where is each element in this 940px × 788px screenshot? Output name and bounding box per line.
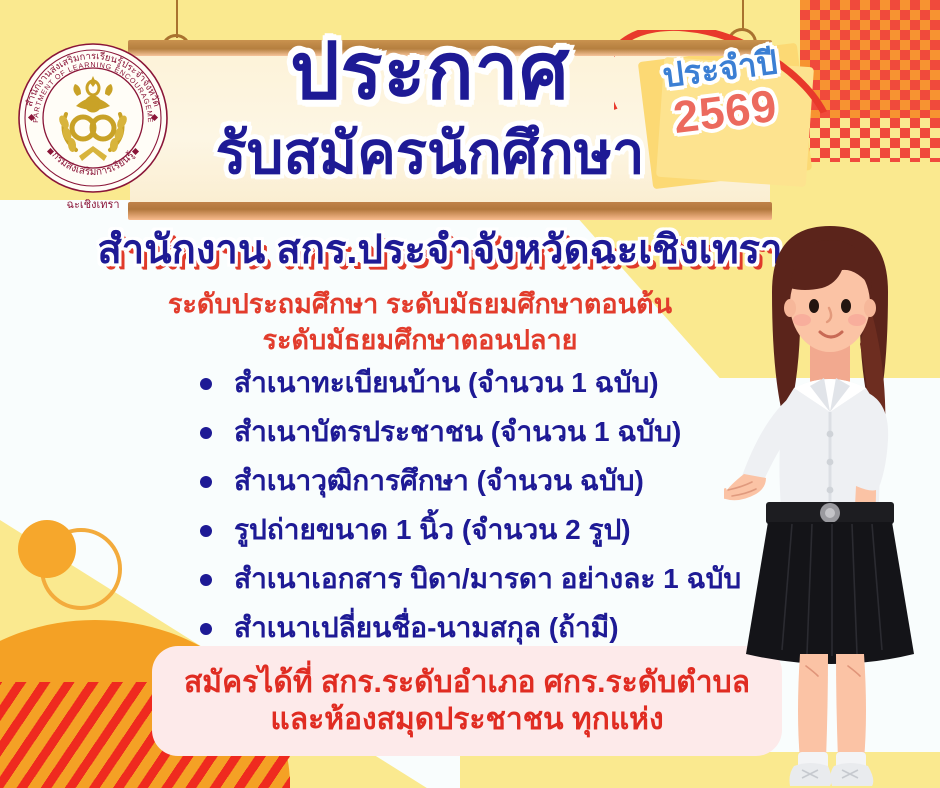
list-item-label: สำเนาเอกสาร บิดา/มารดา อย่างละ 1 ฉบับ xyxy=(234,563,741,594)
bullet-icon xyxy=(200,378,212,390)
list-item: สำเนาบัตรประชาชน (จำนวน 1 ฉบับ) xyxy=(196,415,756,448)
apply-location-line: สมัครได้ที่ สกร.ระดับอำเภอ ศกร.ระดับตำบล xyxy=(184,664,750,702)
education-levels: ระดับประถมศึกษา ระดับมัธยมศึกษาตอนต้น ระ… xyxy=(90,286,750,359)
page-title: ประกาศ xyxy=(130,32,730,110)
page-subtitle: รับสมัครนักศึกษา xyxy=(130,124,730,185)
seal-province-text: ฉะเชิงเทรา xyxy=(66,199,119,211)
list-item-label: รูปถ่ายขนาด 1 นิ้ว (จำนวน 2 รูป) xyxy=(234,514,631,545)
decor-orange-circle xyxy=(18,520,76,578)
board-rope-right xyxy=(742,0,744,30)
list-item-label: สำเนาวุฒิการศึกษา (จำนวน ฉบับ) xyxy=(234,465,644,496)
bullet-icon xyxy=(200,427,212,439)
poster-root: ประกาศ รับสมัครนักศึกษา ประจำปี 2569 สำน… xyxy=(0,0,940,788)
list-item: รูปถ่ายขนาด 1 นิ้ว (จำนวน 2 รูป) xyxy=(196,513,756,546)
board-frame-bottom xyxy=(128,202,772,220)
office-name-banner: สำนักงาน สกร.ประจำจังหวัดฉะเชิงเทรา xyxy=(60,228,820,272)
apply-location-box: สมัครได้ที่ สกร.ระดับอำเภอ ศกร.ระดับตำบล… xyxy=(152,646,782,756)
list-item-label: สำเนาทะเบียนบ้าน (จำนวน 1 ฉบับ) xyxy=(234,367,659,398)
required-documents-list: สำเนาทะเบียนบ้าน (จำนวน 1 ฉบับ) สำเนาบัต… xyxy=(196,366,756,660)
list-item: สำเนาวุฒิการศึกษา (จำนวน ฉบับ) xyxy=(196,464,756,497)
list-item-label: สำเนาบัตรประชาชน (จำนวน 1 ฉบับ) xyxy=(234,416,681,447)
list-item: สำเนาเปลี่ยนชื่อ-นามสกุล (ถ้ามี) xyxy=(196,611,756,644)
year-badge: ประจำปี 2569 xyxy=(644,43,803,143)
education-level-line: ระดับมัธยมศึกษาตอนปลาย xyxy=(90,322,750,358)
bullet-icon xyxy=(200,476,212,488)
list-item: สำเนาเอกสาร บิดา/มารดา อย่างละ 1 ฉบับ xyxy=(196,562,756,595)
list-item-label: สำเนาเปลี่ยนชื่อ-นามสกุล (ถ้ามี) xyxy=(234,612,619,643)
bullet-icon xyxy=(200,623,212,635)
apply-location-line: และห้องสมุดประชาชน ทุกแห่ง xyxy=(270,701,663,739)
education-level-line: ระดับประถมศึกษา ระดับมัธยมศึกษาตอนต้น xyxy=(90,286,750,322)
department-seal-logo: สำนักงานส่งเสริมการเรียนรู้ประจำจังหวัด … xyxy=(14,36,172,216)
bullet-icon xyxy=(200,574,212,586)
student-character-illustration xyxy=(724,196,940,788)
bullet-icon xyxy=(200,525,212,537)
list-item: สำเนาทะเบียนบ้าน (จำนวน 1 ฉบับ) xyxy=(196,366,756,399)
